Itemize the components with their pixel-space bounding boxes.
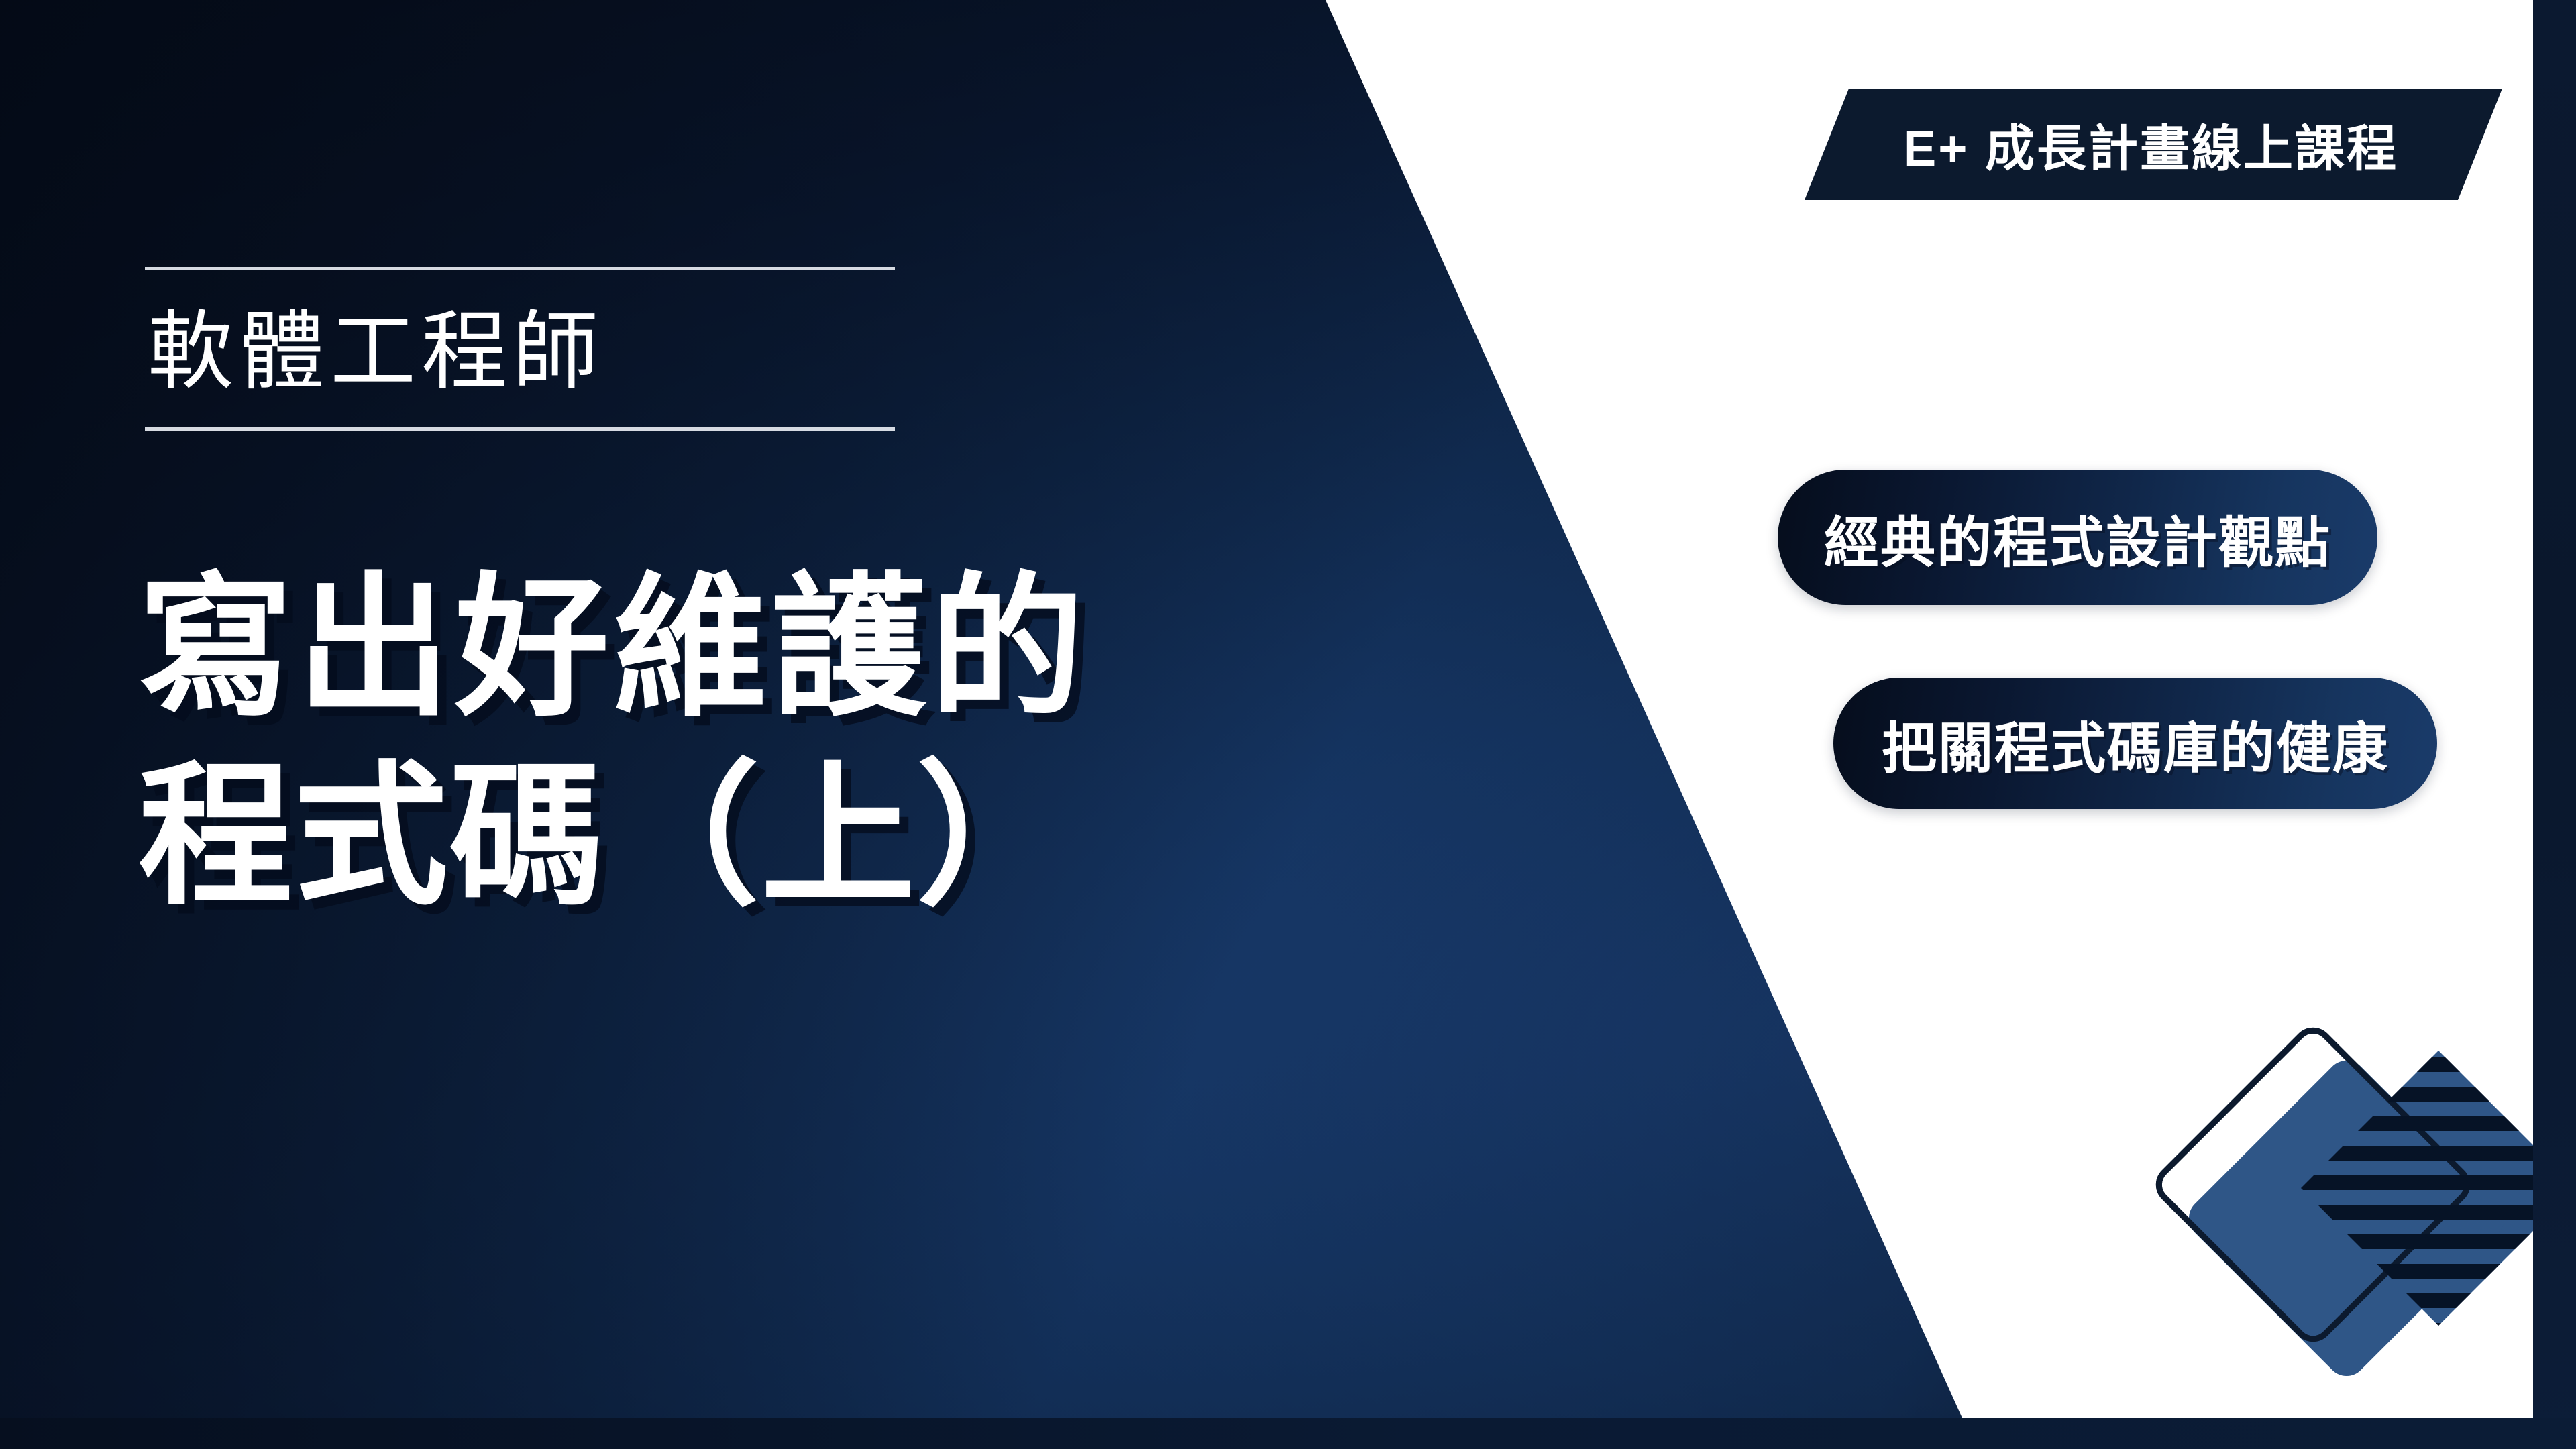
topic-pill-1-label: 經典的程式設計觀點 xyxy=(1824,498,2331,578)
kicker-rule-bottom xyxy=(145,427,895,431)
kicker-rule-top xyxy=(145,267,895,270)
title-line-1: 寫出好維護的 xyxy=(138,554,1715,743)
kicker-label: 軟體工程師 xyxy=(145,270,896,427)
page-title: 寫出好維護的 程式碼（上） xyxy=(138,554,1715,930)
title-line-2: 程式碼（上） xyxy=(138,743,1715,931)
diamond-decoration xyxy=(2133,1020,2576,1419)
topic-pill-2: 把關程式碼庫的健康 xyxy=(1833,678,2437,809)
topic-pill-2-label: 把關程式碼庫的健康 xyxy=(1882,704,2389,784)
right-edge-strip xyxy=(2533,0,2576,1449)
kicker-block: 軟體工程師 xyxy=(145,267,896,431)
course-ribbon-badge: E+ 成長計畫線上課程 xyxy=(1805,89,2502,200)
course-ribbon-label: E+ 成長計畫線上課程 xyxy=(1903,109,2398,180)
slide-canvas: 軟體工程師 寫出好維護的 程式碼（上） E+ 成長計畫線上課程 經典的程式設計觀… xyxy=(0,0,2576,1449)
bottom-edge-strip xyxy=(0,1418,2576,1449)
topic-pill-1: 經典的程式設計觀點 xyxy=(1778,470,2377,605)
